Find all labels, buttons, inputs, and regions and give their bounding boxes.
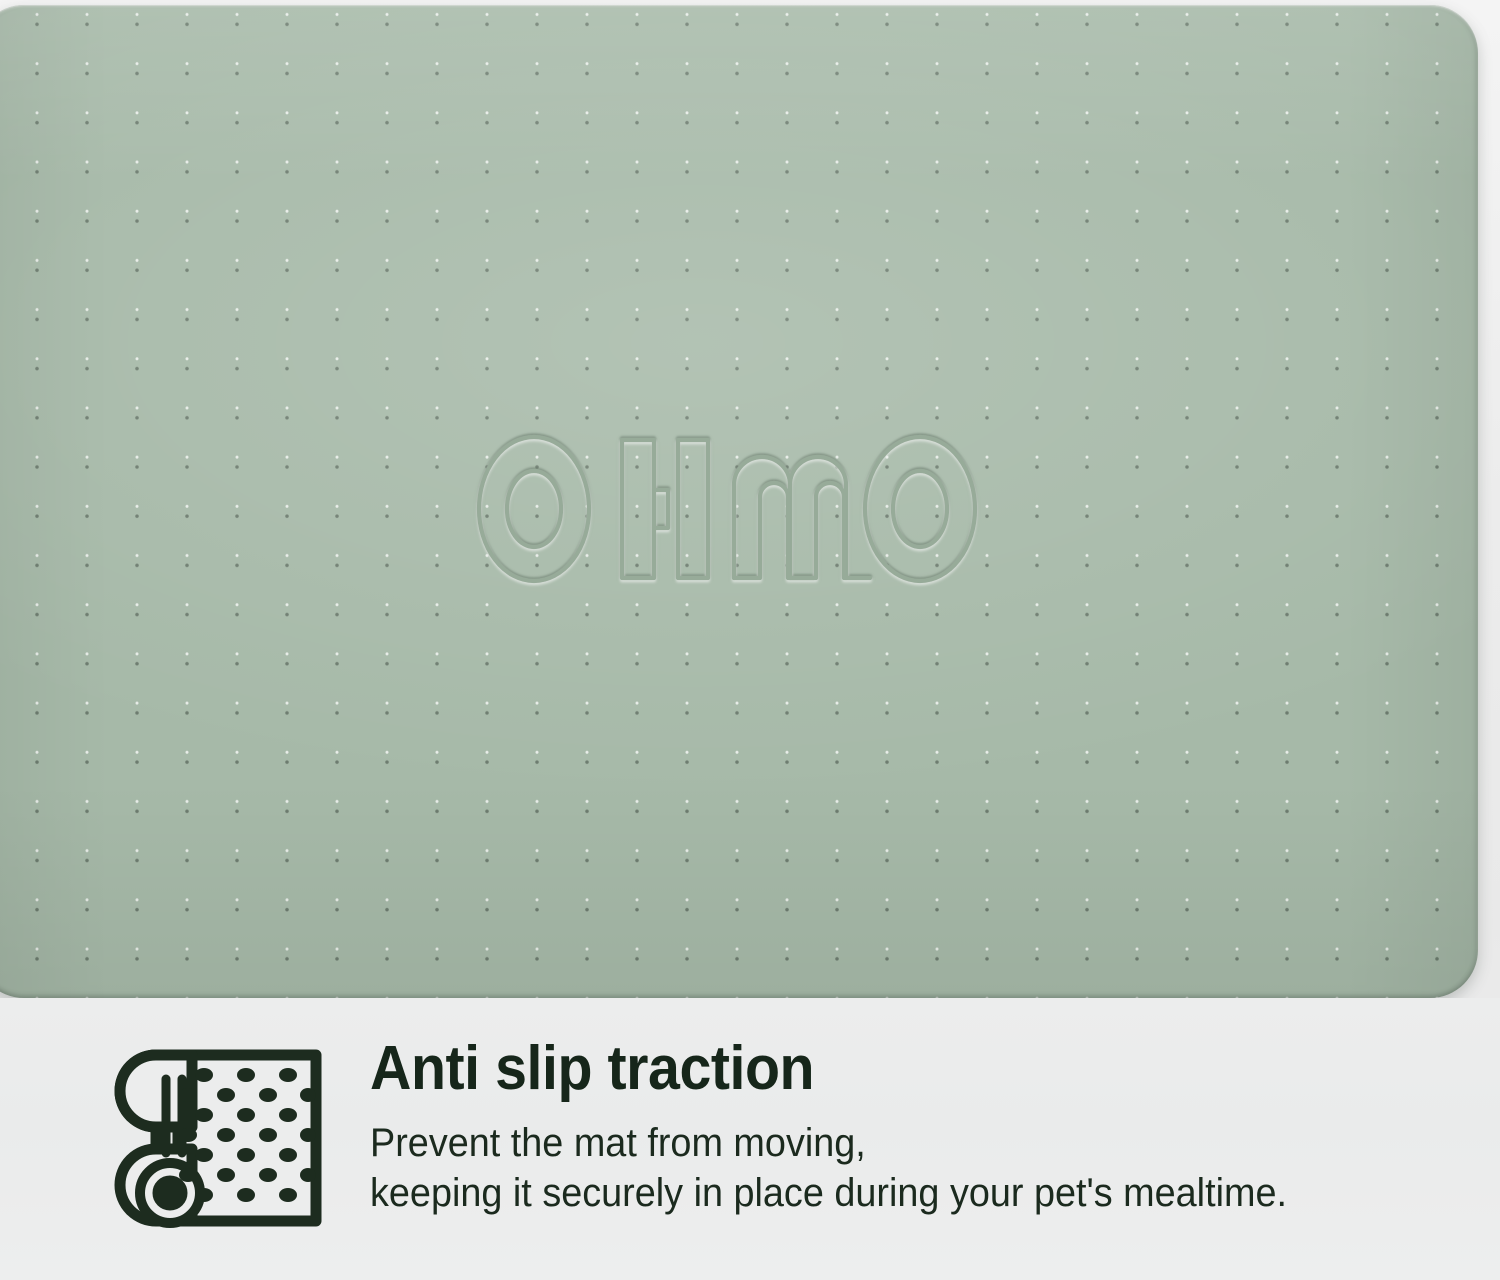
feature-description-line-1: Prevent the mat from moving,	[370, 1118, 1400, 1168]
feature-title: Anti slip traction	[370, 1034, 1378, 1104]
feature-description: Prevent the mat from moving, keeping it …	[370, 1118, 1400, 1218]
feature-description-line-2: keeping it securely in place during your…	[370, 1168, 1400, 1218]
product-feature-image: Anti slip traction Prevent the mat from …	[0, 0, 1500, 1280]
feature-text-block: Anti slip traction Prevent the mat from …	[370, 1034, 1460, 1218]
brand-logo-ohmo	[472, 429, 982, 589]
mat-surface	[0, 5, 1478, 998]
mat-lighting-sheen	[0, 5, 1478, 998]
mat-dot-texture	[0, 5, 1478, 998]
pet-food-mat	[0, 5, 1478, 998]
mat-edge-bevel	[0, 5, 1478, 998]
rolled-mat-with-dots-icon	[112, 1033, 324, 1238]
